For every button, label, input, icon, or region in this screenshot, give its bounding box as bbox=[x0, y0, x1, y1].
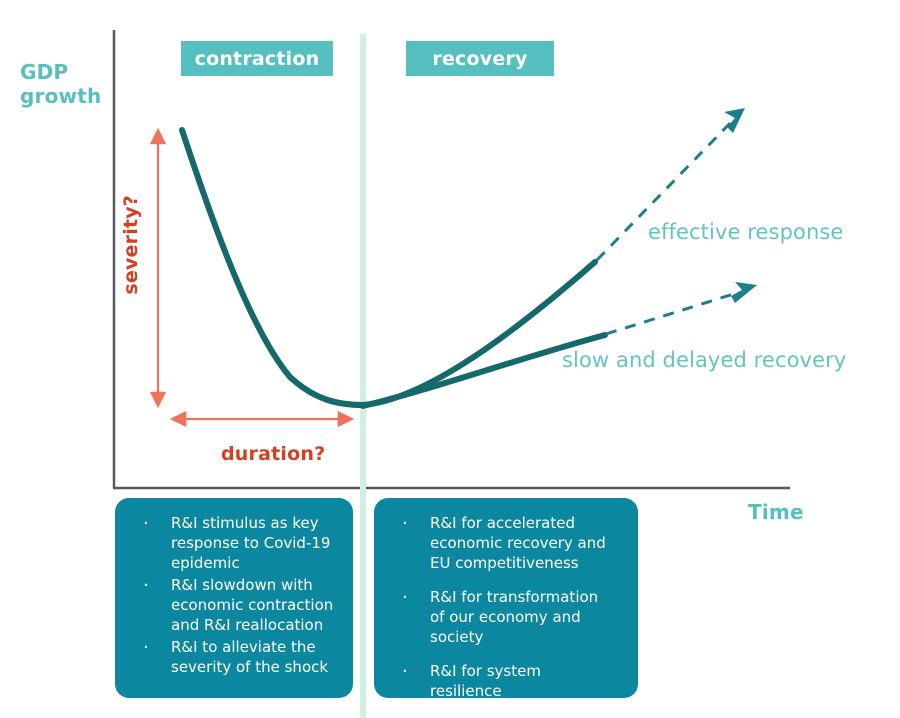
phase-chip-contraction: contraction bbox=[181, 41, 333, 76]
y-axis-title: GDP growth bbox=[20, 60, 116, 109]
severity-annotation-label: severity? bbox=[120, 195, 142, 295]
phase-chip-contraction-label: contraction bbox=[195, 48, 320, 70]
slow-recovery-dashed-line bbox=[606, 292, 740, 334]
effective-response-solid-line bbox=[363, 262, 595, 405]
bullet-panel-recovery: R&I for accelerated economic recovery an… bbox=[374, 498, 638, 698]
slow-recovery-arrowhead-icon bbox=[731, 282, 757, 303]
list-item: R&I for system resilience bbox=[386, 662, 624, 702]
bullet-list-recovery: R&I for accelerated economic recovery an… bbox=[386, 514, 624, 702]
scenario-label-effective-response: effective response bbox=[648, 220, 843, 244]
effective-response-arrowhead-icon bbox=[724, 108, 745, 133]
contraction-curve bbox=[182, 130, 363, 405]
x-axis-title: Time bbox=[748, 500, 804, 524]
list-item: R&I for accelerated economic recovery an… bbox=[386, 514, 624, 574]
list-item: R&I slowdown with economic contraction a… bbox=[127, 576, 339, 636]
phase-chip-recovery: recovery bbox=[406, 41, 554, 76]
diagram-canvas: GDP growth Time contraction recovery sev… bbox=[0, 0, 900, 718]
list-item: R&I for transformation of our economy an… bbox=[386, 588, 624, 648]
list-item: R&I stimulus as key response to Covid-19… bbox=[127, 514, 339, 574]
phase-chip-recovery-label: recovery bbox=[432, 48, 527, 70]
duration-annotation-label: duration? bbox=[221, 443, 325, 465]
bullet-panel-contraction: R&I stimulus as key response to Covid-19… bbox=[115, 498, 353, 698]
scenario-label-slow-recovery: slow and delayed recovery bbox=[562, 348, 846, 372]
list-item: R&I to alleviate the severity of the sho… bbox=[127, 638, 339, 678]
bullet-list-contraction: R&I stimulus as key response to Covid-19… bbox=[127, 514, 339, 678]
